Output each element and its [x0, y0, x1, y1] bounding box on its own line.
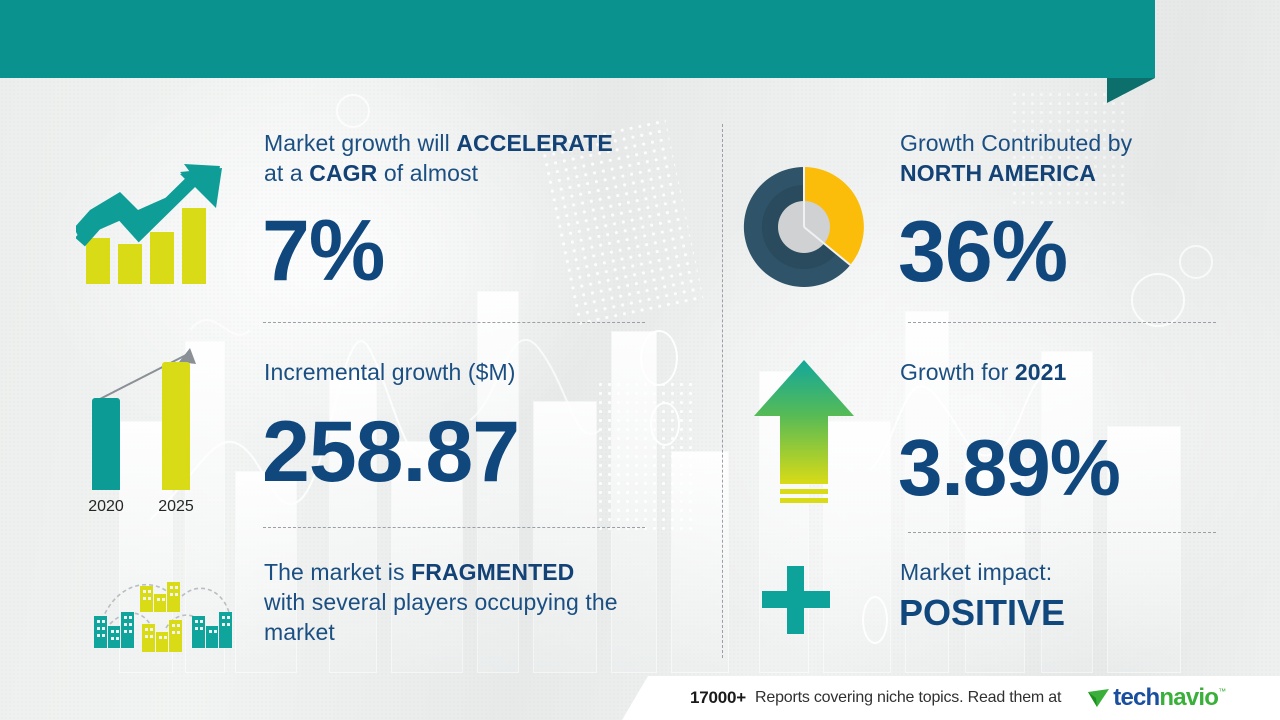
fragmentation-description: The market is FRAGMENTED with several pl…	[264, 557, 684, 647]
right-divider-2	[908, 532, 1216, 533]
incremental-growth-label: Incremental growth ($M)	[264, 357, 664, 387]
background-ring	[336, 94, 370, 128]
frag-line3: market	[264, 619, 335, 645]
technavio-logo[interactable]: tech navio ™	[1087, 684, 1226, 712]
city-cluster-icon	[66, 558, 246, 656]
north-america-description: Growth Contributed by NORTH AMERICA	[900, 128, 1230, 188]
left-divider-1	[263, 322, 645, 323]
up-arrow-icon	[752, 358, 856, 508]
growth-2021-year: 2021	[1015, 359, 1067, 385]
cagr-line2-suffix: of almost	[377, 160, 478, 186]
market-impact-label: Market impact:	[900, 557, 1230, 587]
bar-2025	[162, 362, 190, 490]
na-line1: Growth Contributed by	[900, 130, 1132, 156]
background-ring	[650, 402, 680, 446]
na-line2-bold: NORTH AMERICA	[900, 160, 1096, 186]
cagr-line1-bold: ACCELERATE	[456, 130, 612, 156]
bar-label-2025: 2025	[145, 498, 207, 516]
cagr-line2-prefix: at a	[264, 160, 309, 186]
infographic-canvas: GLOBAL ADVANCED CARBON DIOXIDE (CO2) SEN…	[0, 0, 1280, 720]
market-impact-value: POSITIVE	[899, 592, 1065, 634]
background-dot-grid	[596, 380, 696, 530]
plus-icon	[762, 566, 830, 634]
north-america-value: 36%	[898, 203, 1067, 302]
column-divider	[722, 124, 723, 658]
frag-line2: with several players occupying the	[264, 589, 618, 615]
frag-line1-bold: FRAGMENTED	[411, 559, 574, 585]
header-banner	[0, 0, 1155, 78]
footer-tagline: Reports covering niche topics. Read them…	[755, 689, 1061, 707]
cagr-line2-bold: CAGR	[309, 160, 377, 186]
cagr-value: 7%	[262, 202, 384, 301]
background-ring	[862, 596, 888, 644]
donut-chart-icon	[740, 163, 868, 291]
left-divider-2	[263, 527, 645, 528]
growth-2021-prefix: Growth for	[900, 359, 1015, 385]
growth-2021-value: 3.89%	[898, 422, 1120, 514]
plus-icon-vertical-bar	[787, 566, 804, 634]
incremental-growth-value: 258.87	[262, 403, 519, 502]
cagr-line1-prefix: Market growth will	[264, 130, 456, 156]
frag-line1-prefix: The market is	[264, 559, 411, 585]
right-divider-1	[908, 322, 1216, 323]
growth-chart-icon	[76, 152, 238, 284]
logo-trademark: ™	[1218, 687, 1226, 696]
bar-chart-icon: 2020 2025	[78, 338, 228, 518]
reports-count: 17000+	[690, 688, 746, 708]
logo-text-tech: tech	[1113, 684, 1159, 712]
paper-plane-icon	[1087, 687, 1111, 709]
growth-2021-label: Growth for 2021	[900, 357, 1230, 387]
logo-text-navio: navio	[1159, 684, 1218, 712]
bar-label-2020: 2020	[75, 498, 137, 516]
footer-bar: 17000+ Reports covering niche topics. Re…	[648, 676, 1280, 720]
bar-2020	[92, 398, 120, 490]
banner-fold-corner	[1107, 78, 1155, 103]
cagr-description: Market growth will ACCELERATE at a CAGR …	[264, 128, 664, 188]
